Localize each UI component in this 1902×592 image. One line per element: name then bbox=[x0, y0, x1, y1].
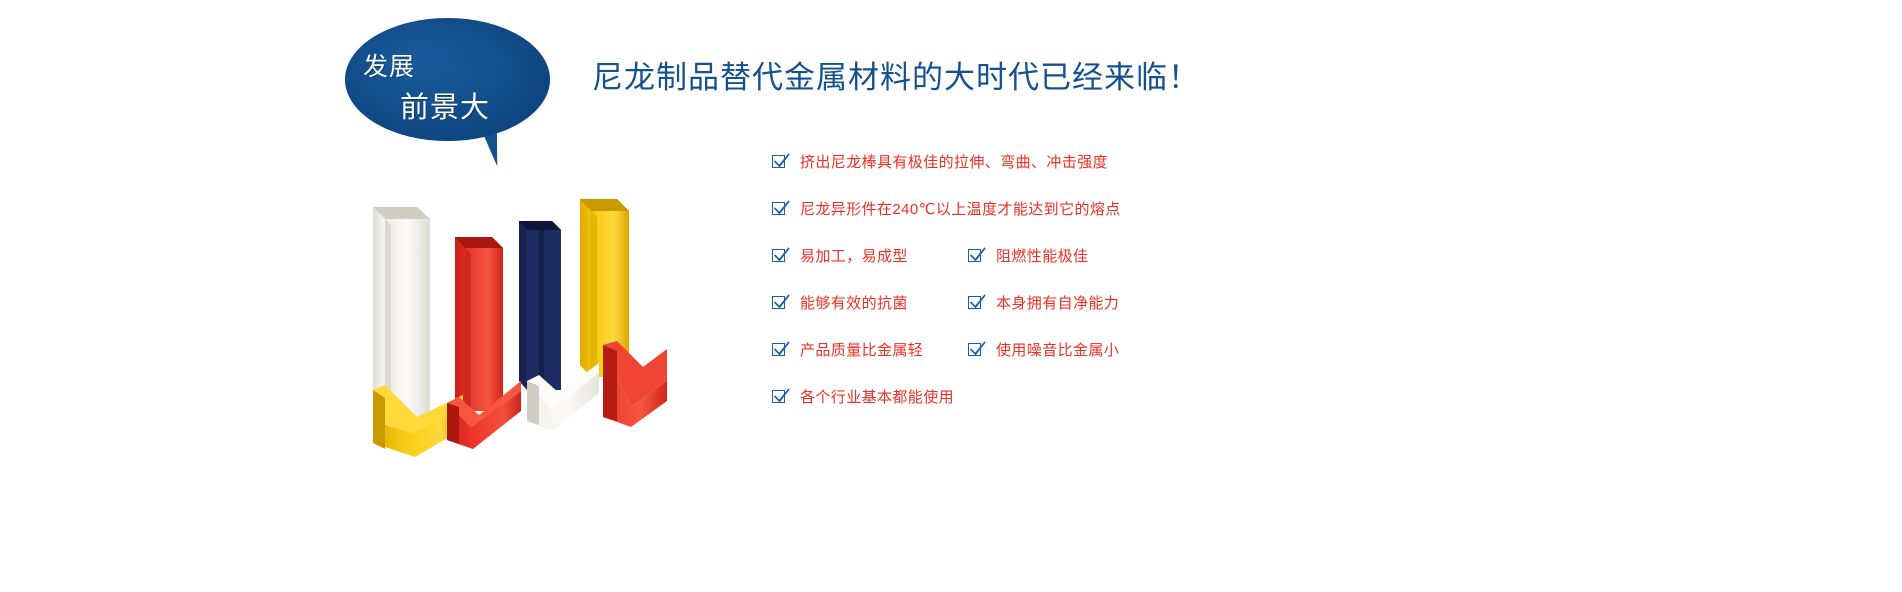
feature-item: 易加工，易成型 bbox=[772, 249, 908, 264]
product-photo-svg bbox=[355, 185, 695, 465]
feature-list: 挤出尼龙棒具有极佳的拉伸、弯曲、冲击强度尼龙异形件在240℃以上温度才能达到它的… bbox=[772, 155, 1412, 437]
feature-item: 能够有效的抗菌 bbox=[772, 296, 908, 311]
feature-label: 尼龙异形件在240℃以上温度才能达到它的熔点 bbox=[800, 202, 1121, 217]
feature-label: 易加工，易成型 bbox=[800, 249, 908, 264]
headline: 尼龙制品替代金属材料的大时代已经来临！ bbox=[592, 52, 1200, 97]
feature-label: 能够有效的抗菌 bbox=[800, 296, 908, 311]
speech-bubble-line-1: 发展 bbox=[363, 47, 415, 83]
checkbox-check-icon bbox=[772, 296, 787, 311]
piece-white-u-channel-tall bbox=[373, 207, 430, 417]
promo-banner: 发展 前景大 尼龙制品替代金属材料的大时代已经来临！ bbox=[0, 0, 1902, 592]
feature-item: 尼龙异形件在240℃以上温度才能达到它的熔点 bbox=[772, 202, 1121, 217]
feature-item: 挤出尼龙棒具有极佳的拉伸、弯曲、冲击强度 bbox=[772, 155, 1108, 170]
checkbox-check-icon bbox=[772, 202, 787, 217]
feature-row: 产品质量比金属轻使用噪音比金属小 bbox=[772, 343, 1412, 390]
piece-red-u-channel bbox=[455, 237, 503, 411]
speech-bubble-text: 发展 前景大 bbox=[345, 18, 550, 141]
feature-row: 各个行业基本都能使用 bbox=[772, 390, 1412, 437]
speech-bubble: 发展 前景大 bbox=[345, 18, 550, 163]
feature-row: 易加工，易成型阻燃性能极佳 bbox=[772, 249, 1412, 296]
checkbox-check-icon bbox=[968, 296, 983, 311]
feature-item: 各个行业基本都能使用 bbox=[772, 390, 954, 405]
feature-label: 各个行业基本都能使用 bbox=[800, 390, 954, 405]
speech-bubble-line-2: 前景大 bbox=[400, 84, 490, 126]
piece-red-l-angle-right bbox=[603, 341, 667, 427]
checkbox-check-icon bbox=[772, 343, 787, 358]
feature-label: 使用噪音比金属小 bbox=[996, 343, 1119, 358]
feature-item: 阻燃性能极佳 bbox=[968, 249, 1088, 264]
feature-row: 尼龙异形件在240℃以上温度才能达到它的熔点 bbox=[772, 202, 1412, 249]
piece-navy-u-channel bbox=[519, 221, 561, 390]
feature-item: 产品质量比金属轻 bbox=[772, 343, 923, 358]
feature-label: 本身拥有自净能力 bbox=[996, 296, 1119, 311]
checkbox-check-icon bbox=[772, 155, 787, 170]
checkbox-check-icon bbox=[968, 249, 983, 264]
feature-label: 阻燃性能极佳 bbox=[996, 249, 1088, 264]
feature-item: 使用噪音比金属小 bbox=[968, 343, 1119, 358]
feature-row: 挤出尼龙棒具有极佳的拉伸、弯曲、冲击强度 bbox=[772, 155, 1412, 202]
checkbox-check-icon bbox=[772, 249, 787, 264]
feature-row: 能够有效的抗菌本身拥有自净能力 bbox=[772, 296, 1412, 343]
feature-label: 挤出尼龙棒具有极佳的拉伸、弯曲、冲击强度 bbox=[800, 155, 1108, 170]
feature-label: 产品质量比金属轻 bbox=[800, 343, 923, 358]
feature-item: 本身拥有自净能力 bbox=[968, 296, 1119, 311]
product-photo bbox=[355, 185, 695, 465]
checkbox-check-icon bbox=[772, 390, 787, 405]
checkbox-check-icon bbox=[968, 343, 983, 358]
